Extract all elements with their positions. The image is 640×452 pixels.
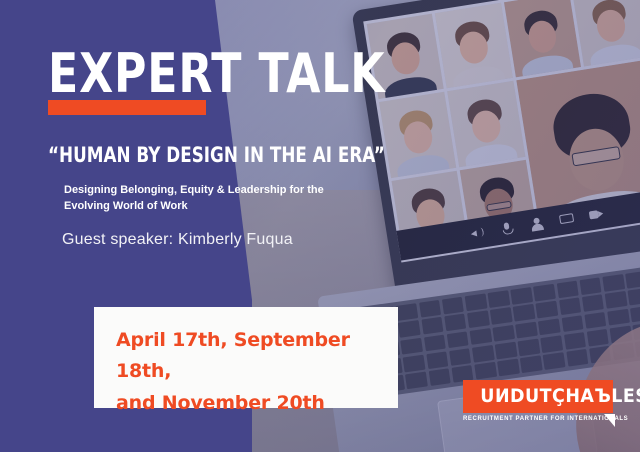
event-tagline: Designing Belonging, Equity & Leadership… [64,183,354,215]
quote-headline: “HUMAN BY DESIGN IN THE AI ERA” [48,143,385,167]
logo-tagline-row: RECRUITMENT PARTNER FOR INTERNATIONALS [463,416,613,422]
date-line-1: April 17th, September 18th, [116,325,398,388]
poster-content: EXPERT TALK “HUMAN BY DESIGN IN THE AI E… [0,0,640,452]
logo-wordmark: UИDUTÇHAЪLES [480,385,640,407]
logo-corner-fold-icon [604,414,615,427]
date-card: April 17th, September 18th, and November… [94,307,398,408]
title-block: EXPERT TALK [48,48,468,101]
page-title: EXPERT TALK [48,48,392,101]
guest-speaker-line: Guest speaker: Kimberly Fuqua [62,231,293,249]
undutchables-logo[interactable]: UИDUTÇHAЪLES RECRUITMENT PARTNER FOR IN… [463,380,613,422]
logo-wordmark-block: UИDUTÇHAЪLES [463,380,613,413]
date-line-2: and November 20th [116,388,398,419]
poster-canvas: EXPERT TALK “HUMAN BY DESIGN IN THE AI E… [0,0,640,452]
